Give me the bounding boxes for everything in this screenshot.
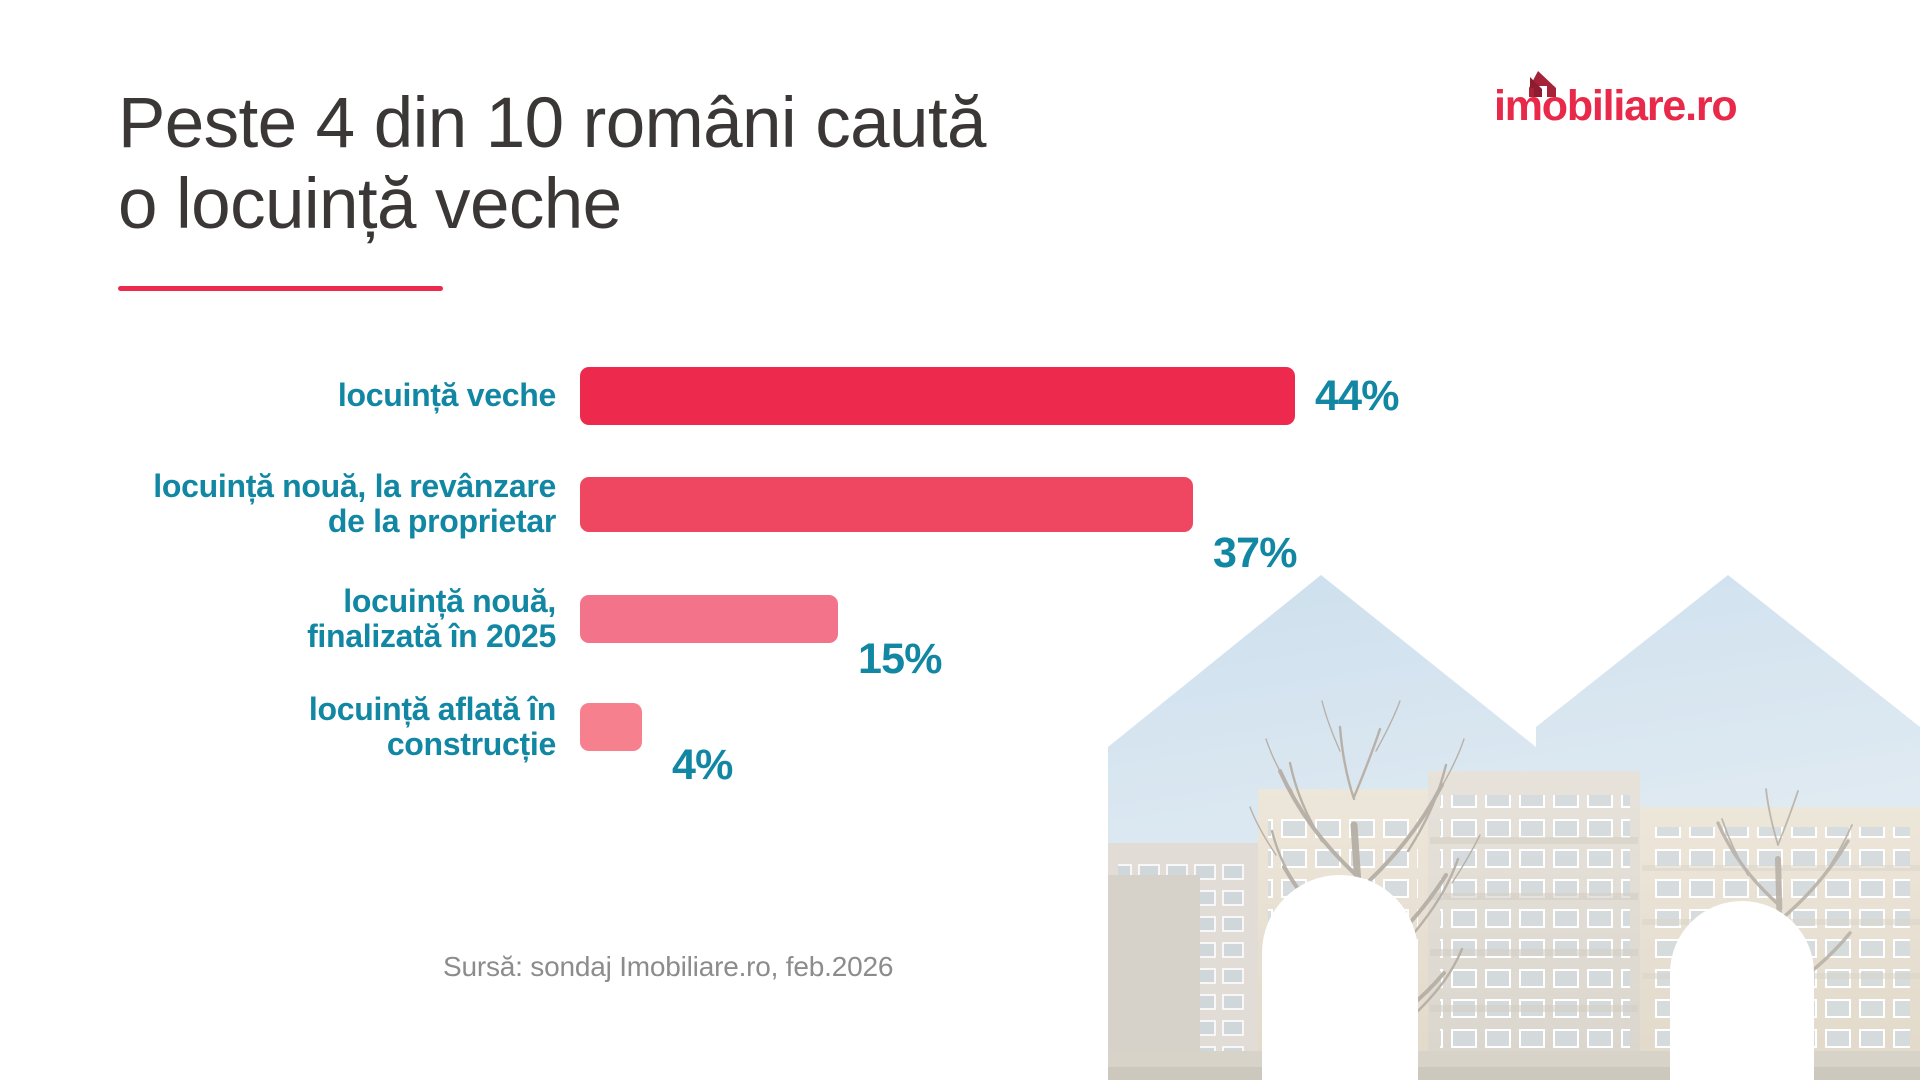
page-title-line-2: o locuință veche: [118, 165, 1298, 246]
bar-category-label: locuință nouă, finalizată în 2025: [0, 584, 580, 654]
chart-row: locuință nouă, finalizată în 2025 15%: [0, 564, 1500, 674]
bar-track: 44%: [580, 348, 1500, 444]
chart-row: locuință veche 44%: [0, 348, 1500, 444]
logo-house-icon: [1520, 71, 1556, 97]
bar-chart: locuință veche 44% locuință nouă, la rev…: [0, 348, 1500, 780]
bar-track: 15%: [580, 564, 1500, 674]
page-title: Peste 4 din 10 români caută o locuință v…: [118, 84, 1298, 246]
bar-track: 4%: [580, 674, 1500, 780]
bar-fill[interactable]: [580, 703, 642, 751]
bar-category-label: locuință aflată în construcție: [0, 692, 580, 762]
source-note: Sursă: sondaj Imobiliare.ro, feb.2026: [443, 951, 893, 983]
bar-category-label: locuință veche: [0, 378, 580, 413]
bar-fill[interactable]: [580, 595, 838, 643]
title-underline-accent: [118, 286, 443, 291]
bar-value-label: 44%: [1315, 372, 1399, 421]
imobiliare-logo[interactable]: imobiliare.ro: [1494, 82, 1736, 131]
infographic-canvas: imobiliare.ro Peste 4 din 10 români caut…: [0, 0, 1920, 1080]
logo-wordmark: imobiliare.ro: [1494, 82, 1736, 131]
bar-fill[interactable]: [580, 477, 1193, 532]
page-title-line-1: Peste 4 din 10 români caută: [118, 84, 1298, 165]
bar-fill[interactable]: [580, 367, 1295, 425]
chart-row: locuință nouă, la revânzare de la propri…: [0, 444, 1500, 564]
bar-category-label: locuință nouă, la revânzare de la propri…: [0, 469, 580, 539]
bar-value-label: 4%: [672, 741, 733, 790]
chart-row: locuință aflată în construcție 4%: [0, 674, 1500, 780]
bar-track: 37%: [580, 444, 1500, 564]
